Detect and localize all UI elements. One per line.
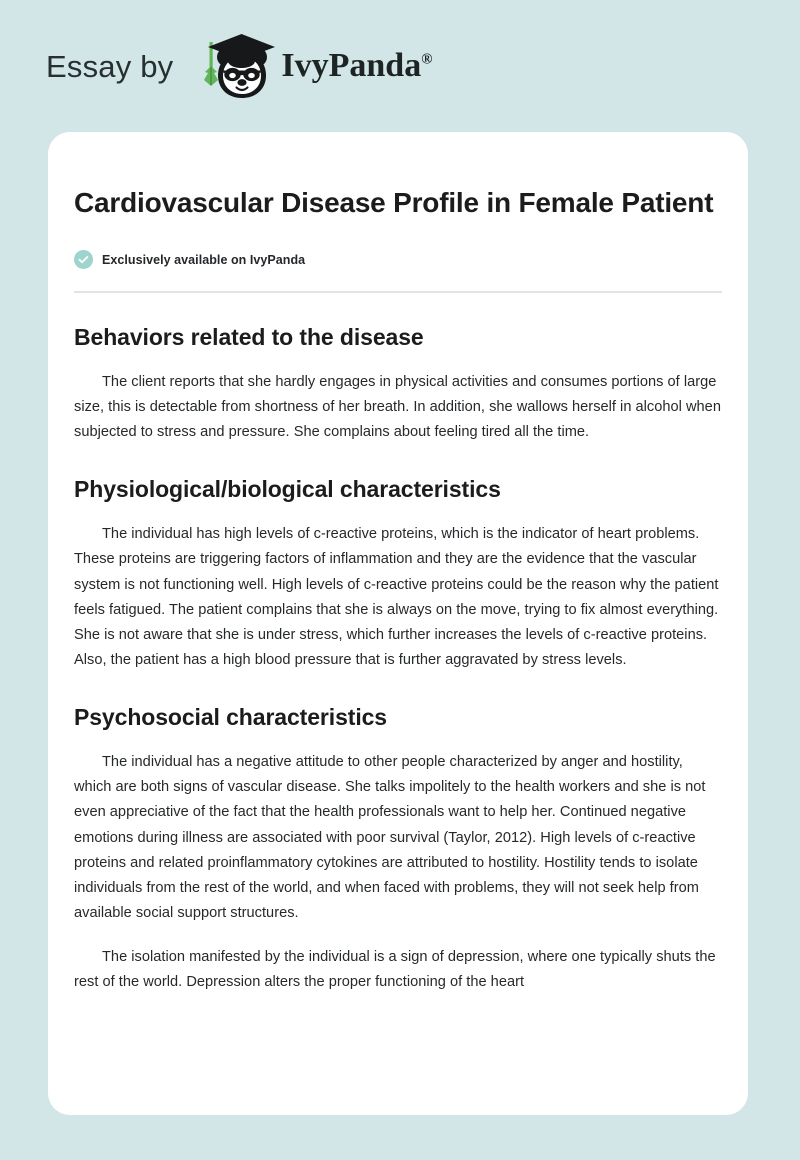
section-heading-physiological: Physiological/biological characteristics: [74, 475, 722, 504]
check-circle-icon: [74, 250, 93, 269]
section-heading-behaviors: Behaviors related to the disease: [74, 323, 722, 352]
essay-by-label: Essay by: [46, 51, 173, 82]
wordmark-text: IvyPanda: [281, 47, 421, 84]
section-heading-psychosocial: Psychosocial characteristics: [74, 703, 722, 732]
ivypanda-wordmark: IvyPanda®: [281, 49, 432, 83]
page-title: Cardiovascular Disease Profile in Female…: [74, 182, 722, 224]
site-header: Essay by: [0, 0, 800, 132]
section-paragraph: The client reports that she hardly engag…: [74, 370, 722, 446]
registered-trademark-symbol: ®: [421, 52, 432, 68]
section-paragraph: The isolation manifested by the individu…: [74, 945, 722, 995]
section-paragraph: The individual has high levels of c-reac…: [74, 522, 722, 673]
essay-card: Cardiovascular Disease Profile in Female…: [48, 132, 748, 1115]
availability-label: Exclusively available on IvyPanda: [102, 253, 305, 267]
brand-logo-group[interactable]: Essay by: [46, 30, 432, 102]
header-divider: [74, 291, 722, 293]
availability-badge: Exclusively available on IvyPanda: [74, 250, 722, 269]
section-paragraph: The individual has a negative attitude t…: [74, 750, 722, 926]
panda-graduate-icon: [195, 30, 279, 102]
